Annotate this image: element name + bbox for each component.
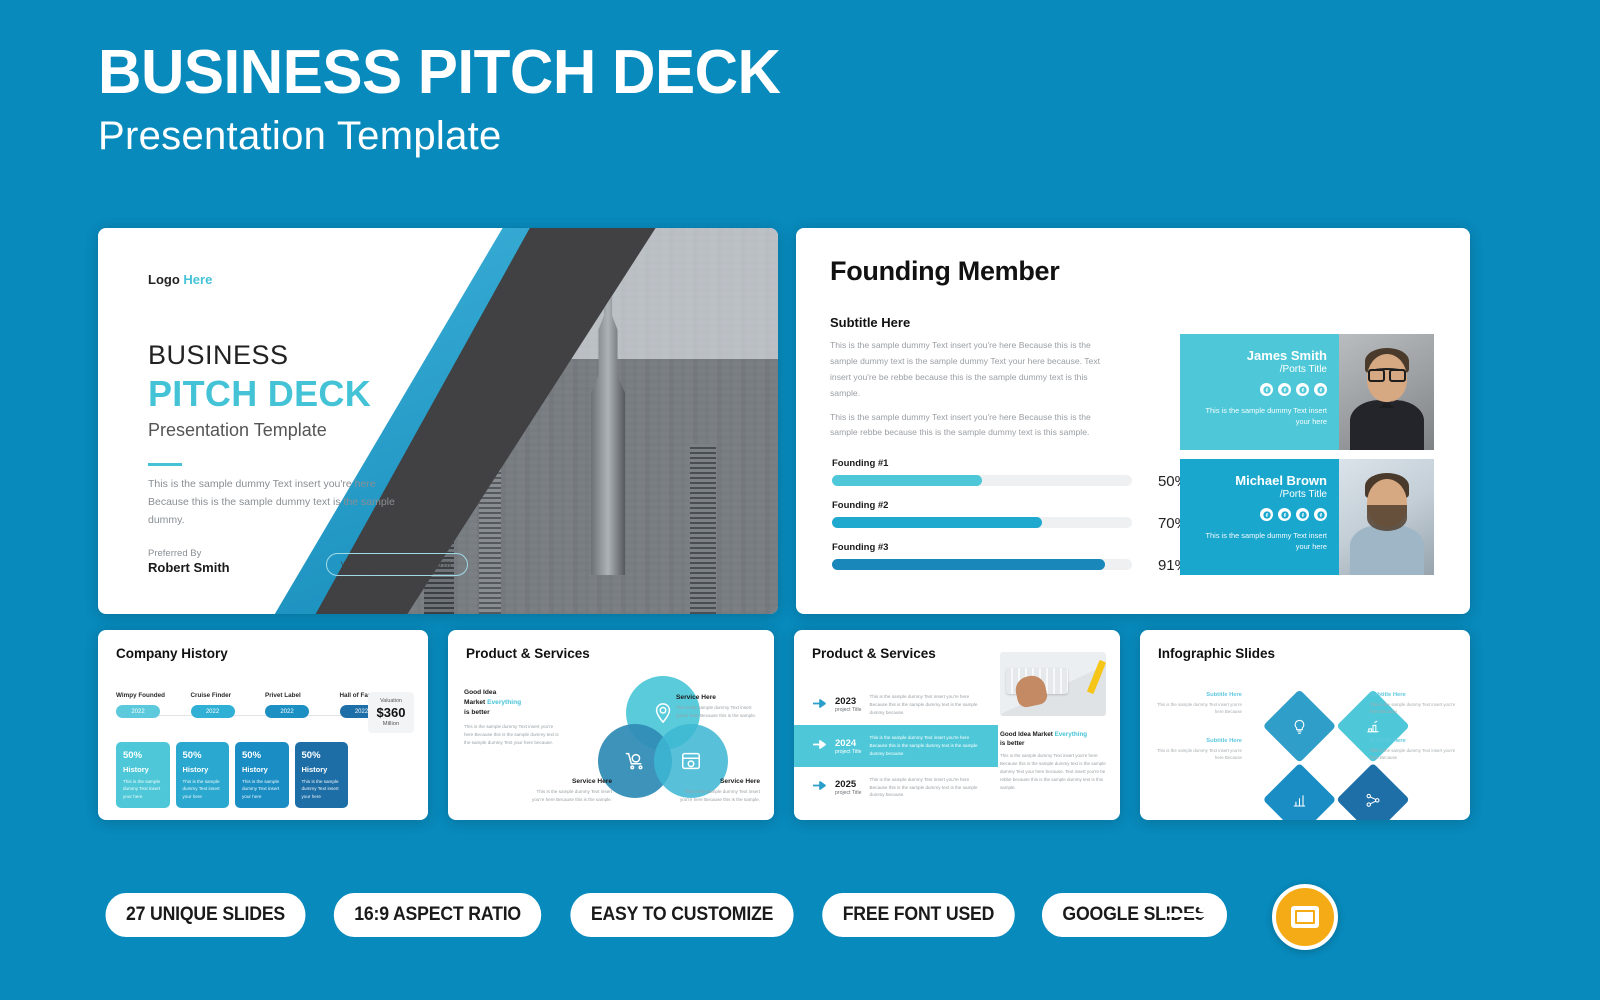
milestone-name: Cruise Finder (191, 692, 266, 699)
service-body: This is the sample dummy Text insert you… (676, 788, 760, 804)
cover-heading-pitch-deck: PITCH DECK (148, 373, 371, 415)
timeline-title: Product & Services (812, 646, 936, 661)
service-heading: Service Here (676, 694, 760, 701)
products-intro-body: This is the sample dummy Text insert you… (464, 723, 562, 747)
progress-label: Founding #2 (832, 500, 1132, 511)
year-subtitle: project Title (835, 790, 862, 796)
card-text: This is the sample dummy Text insert you… (123, 778, 163, 800)
side-heading-a: Good Idea Market (1000, 731, 1055, 738)
cover-heading-presentation-template: Presentation Template (148, 420, 327, 441)
side-heading-b: Everything (1055, 731, 1088, 738)
progress-bar-row: Founding #150% (832, 458, 1132, 486)
chart-growth-icon (1365, 718, 1382, 735)
browser-gear-icon (680, 750, 702, 772)
block-heading: Subtitle Here (1370, 738, 1456, 744)
slide-infographic-preview[interactable]: Infographic Slides Subtitle Here This is… (1140, 630, 1470, 820)
member-name: James Smith (1192, 348, 1327, 363)
intro-line-2a: Market (464, 699, 487, 706)
block-heading: Subtitle Here (1156, 692, 1242, 698)
slides-glyph (1291, 906, 1319, 928)
valuation-amount: $360 (372, 705, 410, 720)
side-heading-c: is better (1000, 740, 1025, 747)
block-body: This is the sample dummy Text insert you… (1156, 701, 1242, 716)
infographic-title: Infographic Slides (1158, 646, 1275, 661)
card-label: History (123, 765, 163, 774)
preferred-by-label: Preferred By (148, 548, 230, 559)
milestone-name: Privet Label (265, 692, 340, 699)
year-text: This is the sample dummy Text insert you… (870, 734, 988, 757)
card-percent: 50% (123, 750, 163, 761)
products-title: Product & Services (466, 646, 590, 661)
arrow-right-icon (812, 696, 827, 714)
linkedin-icon[interactable] (1314, 508, 1327, 521)
progress-fill (832, 517, 1042, 528)
member-info: James Smith/Ports TitleThis is the sampl… (1180, 334, 1339, 450)
cover-divider (148, 463, 182, 466)
milestone-year: 2022 (191, 705, 235, 718)
card-text: This is the sample dummy Text insert you… (183, 778, 223, 800)
founding-progress-bars: Founding #150%Founding #270%Founding #39… (832, 458, 1132, 584)
service-block-bottom-left: Service Here This is the sample dummy Te… (528, 778, 612, 804)
page-header: BUSINESS PITCH DECK Presentation Templat… (98, 42, 802, 159)
slide-cover-preview[interactable]: Logo Here BUSINESS PITCH DECK Presentati… (98, 228, 778, 614)
member-role: /Ports Title (1192, 364, 1327, 375)
infographic-block-right-1: Subtitle Here This is the sample dummy T… (1370, 692, 1456, 716)
page-subtitle: Presentation Template (98, 114, 802, 159)
slide-company-history-preview[interactable]: Company History Wimpy Founded2022Cruise … (98, 630, 428, 820)
history-card[interactable]: 50%HistoryThis is the sample dummy Text … (176, 742, 230, 808)
infographic-block-right-2: Subtitle Here This is the sample dummy T… (1370, 738, 1456, 762)
member-text: This is the sample dummy Text insert you… (1192, 530, 1327, 553)
year-rows: 2023project TitleThis is the sample dumm… (794, 684, 998, 808)
feature-badge[interactable]: EASY TO CUSTOMIZE (571, 893, 794, 937)
valuation-caption: Valuation (372, 698, 410, 704)
arrow-right-icon (812, 737, 827, 755)
feature-badge[interactable]: FREE FONT USED (823, 893, 1015, 937)
founding-subtitle: Subtitle Here (830, 315, 1436, 330)
history-card[interactable]: 50%HistoryThis is the sample dummy Text … (295, 742, 349, 808)
history-card[interactable]: 50%HistoryThis is the sample dummy Text … (235, 742, 289, 808)
year-info: 2025project Title (835, 779, 862, 796)
intro-line-3: is better (464, 709, 490, 716)
feature-badges: 27 UNIQUE SLIDES16:9 ASPECT RATIOEASY TO… (98, 893, 1234, 937)
facebook-icon[interactable] (1260, 383, 1273, 396)
founding-paragraph-2: This is the sample dummy Text insert you… (830, 410, 1120, 442)
block-heading: Subtitle Here (1370, 692, 1456, 698)
year-subtitle: project Title (835, 749, 862, 755)
puzzle-graphic (1243, 647, 1421, 820)
instagram-icon[interactable] (1296, 383, 1309, 396)
founding-member-cards: James Smith/Ports TitleThis is the sampl… (1180, 334, 1434, 584)
timeline-side-heading: Good Idea Market Everything is better (1000, 730, 1106, 749)
milestone-item[interactable]: Wimpy Founded2022 (116, 692, 191, 718)
block-body: This is the sample dummy Text insert you… (1370, 747, 1456, 762)
service-heading: Service Here (676, 778, 760, 785)
torso (1350, 525, 1424, 575)
infographic-block-left-2: Subtitle Here This is the sample dummy T… (1156, 738, 1242, 762)
cover-heading-business: BUSINESS (148, 340, 289, 371)
shopping-cart-gear-icon (624, 750, 646, 772)
slide-product-services-timeline-preview[interactable]: Product & Services 2023project TitleThis… (794, 630, 1120, 820)
valuation-box: Valuation $360 Million (368, 692, 414, 733)
linkedin-icon[interactable] (1314, 383, 1327, 396)
card-label: History (242, 765, 282, 774)
card-percent: 50% (242, 750, 282, 761)
social-links (1192, 383, 1327, 396)
founding-paragraph-1: This is the sample dummy Text insert you… (830, 338, 1120, 402)
logo-highlight: Here (183, 272, 212, 287)
member-name: Michael Brown (1192, 473, 1327, 488)
service-block-top-right: Service Here This is the sample dummy Te… (676, 694, 760, 720)
history-card[interactable]: 50%HistoryThis is the sample dummy Text … (116, 742, 170, 808)
building-c (690, 444, 716, 614)
products-intro-heading: Good Idea Market Everything is better (464, 688, 562, 718)
cover-author: Preferred By Robert Smith (148, 548, 230, 575)
member-card[interactable]: James Smith/Ports TitleThis is the sampl… (1180, 334, 1434, 450)
history-cards: 50%HistoryThis is the sample dummy Text … (116, 742, 348, 808)
twitter-icon[interactable] (1278, 508, 1291, 521)
social-links (1192, 508, 1327, 521)
progress-track (832, 517, 1132, 528)
arrow-right-icon (812, 778, 827, 796)
instagram-icon[interactable] (1296, 508, 1309, 521)
card-text: This is the sample dummy Text insert you… (302, 778, 342, 800)
year-number: 2024 (835, 738, 862, 749)
facebook-icon[interactable] (1260, 508, 1273, 521)
year-number: 2023 (835, 696, 862, 707)
milestone-year: 2022 (265, 705, 309, 718)
service-block-bottom-right: Service Here This is the sample dummy Te… (676, 778, 760, 804)
progress-fill (832, 475, 982, 486)
slide-product-services-venn-preview[interactable]: Product & Services Good Idea Market Ever… (448, 630, 774, 820)
milestone-year: 2022 (116, 705, 160, 718)
member-card[interactable]: Michael Brown/Ports TitleThis is the sam… (1180, 459, 1434, 575)
year-info: 2024project Title (835, 738, 862, 755)
service-body: This is the sample dummy Text insert you… (676, 704, 760, 720)
year-row[interactable]: 2023project TitleThis is the sample dumm… (794, 684, 998, 725)
timeline-side-body: This is the sample dummy Text insert you… (1000, 752, 1106, 791)
founding-title: Founding Member (830, 256, 1436, 287)
lightbulb-idea-icon (1291, 718, 1308, 735)
card-label: History (183, 765, 223, 774)
beard (1367, 505, 1407, 531)
valuation-unit: Million (372, 721, 410, 727)
milestone-item[interactable]: Cruise Finder2022 (191, 692, 266, 718)
card-text: This is the sample dummy Text insert you… (242, 778, 282, 800)
year-row[interactable]: 2025project TitleThis is the sample dumm… (794, 767, 998, 808)
year-row[interactable]: 2024project TitleThis is the sample dumm… (794, 725, 998, 766)
cover-content: Logo Here BUSINESS PITCH DECK Presentati… (148, 228, 488, 614)
block-body: This is the sample dummy Text insert you… (1370, 701, 1456, 716)
year-text: This is the sample dummy Text insert you… (870, 776, 988, 799)
member-text: This is the sample dummy Text insert you… (1192, 405, 1327, 428)
slide-founding-member-preview[interactable]: Founding Member Subtitle Here This is th… (796, 228, 1470, 614)
block-body: This is the sample dummy Text insert you… (1156, 747, 1242, 762)
member-photo (1339, 459, 1434, 575)
network-share-icon (1365, 791, 1382, 808)
puzzle-piece-left (1263, 689, 1337, 763)
card-percent: 50% (183, 750, 223, 761)
feature-badge[interactable]: 16:9 ASPECT RATIO (334, 893, 542, 937)
logo-placeholder: Logo Here (148, 272, 212, 287)
feature-badge[interactable]: 27 UNIQUE SLIDES (106, 893, 306, 937)
logo-text: Logo (148, 272, 180, 287)
milestone-name: Wimpy Founded (116, 692, 191, 699)
intro-line-2b: Everything (487, 699, 521, 706)
puzzle-piece-right (1336, 763, 1410, 820)
google-slides-icon[interactable] (1272, 884, 1338, 950)
progress-fill (832, 559, 1105, 570)
service-body: This is the sample dummy Text insert you… (528, 788, 612, 804)
arrow-right-icon[interactable] (1165, 900, 1217, 935)
year-text: This is the sample dummy Text insert you… (870, 693, 988, 716)
card-label: History (302, 765, 342, 774)
author-name: Robert Smith (148, 560, 230, 575)
page-title: BUSINESS PITCH DECK (98, 42, 780, 104)
progress-track (832, 559, 1132, 570)
empire-state-building (591, 290, 625, 576)
progress-bar-row: Founding #270% (832, 500, 1132, 528)
service-heading: Service Here (528, 778, 612, 785)
card-percent: 50% (302, 750, 342, 761)
year-number: 2025 (835, 779, 862, 790)
products-intro: Good Idea Market Everything is better Th… (464, 688, 562, 747)
pencil (1087, 660, 1106, 694)
member-info: Michael Brown/Ports TitleThis is the sam… (1180, 459, 1339, 575)
bar-chart-icon (1291, 791, 1308, 808)
milestone-item[interactable]: Privet Label2022 (265, 692, 340, 718)
puzzle-piece-bottom (1263, 763, 1337, 820)
progress-bar-row: Founding #391% (832, 542, 1132, 570)
progress-track (832, 475, 1132, 486)
block-heading: Subtitle Here (1156, 738, 1242, 744)
location-gear-icon (652, 702, 674, 724)
history-title: Company History (116, 646, 228, 661)
member-photo (1339, 334, 1434, 450)
intro-line-1: Good Idea (464, 689, 496, 696)
year-subtitle: project Title (835, 707, 862, 713)
infographic-block-left-1: Subtitle Here This is the sample dummy T… (1156, 692, 1242, 716)
cover-body-text: This is the sample dummy Text insert you… (148, 476, 413, 530)
twitter-icon[interactable] (1278, 383, 1291, 396)
glasses (1368, 368, 1406, 377)
desk-photo (1000, 652, 1106, 716)
member-role: /Ports Title (1192, 489, 1327, 500)
progress-label: Founding #3 (832, 542, 1132, 553)
progress-label: Founding #1 (832, 458, 1132, 469)
year-info: 2023project Title (835, 696, 862, 713)
website-pill[interactable]: www.pitchdeck.com (326, 553, 468, 576)
